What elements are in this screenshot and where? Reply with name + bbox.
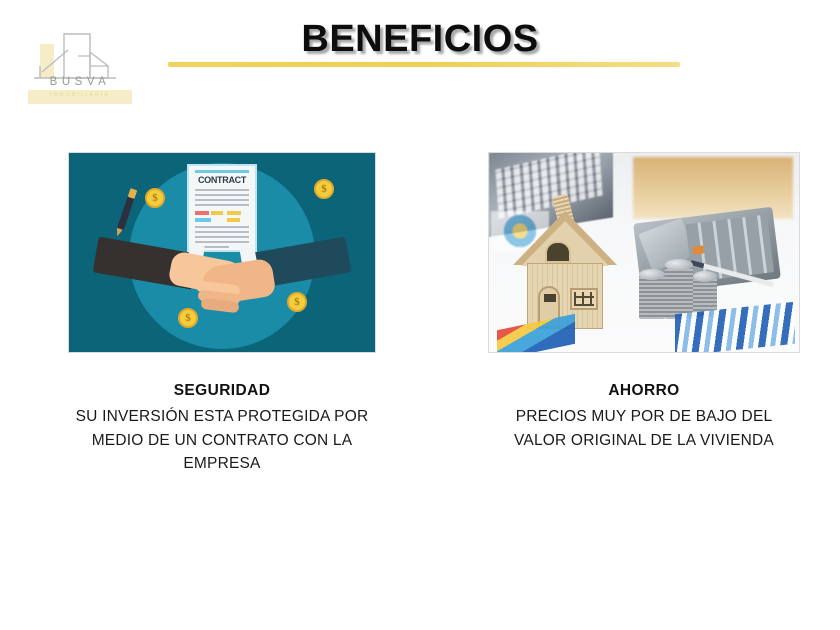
document-form-field [227,218,240,222]
model-house-icon [517,211,613,329]
card-heading: AHORRO [488,382,800,400]
coin-icon: $ [178,308,198,328]
window-grid [574,292,594,306]
document-text-line [195,189,249,191]
title-underline-rule [168,62,680,67]
page-title: BENEFICIOS [0,18,840,61]
door-window [544,294,556,302]
coin-icon: $ [145,188,165,208]
document-text-line [195,199,249,201]
card-caption: AHORRO PRECIOS MUY POR DE BAJO DEL VALOR… [488,382,800,452]
document-title: CONTRACT [189,175,255,185]
house-attic-window [545,241,571,263]
card-caption: SEGURIDAD SU INVERSIÓN ESTA PROTEGIDA PO… [68,382,376,476]
coin-top [639,269,665,280]
document-form-field [195,211,209,215]
logo-wordmark: BUSVA [26,76,134,88]
document-header-bar [195,170,249,173]
document-text-line [195,241,249,243]
logo-tagline: INMOBILIARIA [26,92,134,98]
calculator-orange-key [692,245,704,254]
benefit-card-ahorro: AHORRO PRECIOS MUY POR DE BAJO DEL VALOR… [488,152,800,452]
document-form-field [227,211,241,215]
coin-top [693,271,717,282]
coin-top [665,259,693,271]
photo-background [489,153,799,352]
coin-stack [639,275,665,319]
model-house-coins-calculator-photo [488,152,800,353]
card-body-text: SU INVERSIÓN ESTA PROTEGIDA POR MEDIO DE… [68,405,376,476]
document-text-line [195,231,249,233]
laptop-keyboard [495,153,602,219]
handshake-contract-illustration: CONTRACT [68,152,376,353]
coin-stack [665,265,693,319]
coin-icon: $ [314,179,334,199]
contract-document-icon: CONTRACT [187,164,257,252]
document-text-line [195,194,249,196]
document-text-line [195,236,249,238]
house-window [570,288,598,310]
illustration-background: CONTRACT [69,153,375,352]
document-text-line [195,226,249,228]
document-form-field [195,218,211,222]
slide: BUSVA INMOBILIARIA BENEFICIOS CONTRACT [0,0,840,630]
card-heading: SEGURIDAD [68,382,376,400]
document-form-field [211,211,223,215]
card-body-text: PRECIOS MUY POR DE BAJO DEL VALOR ORIGIN… [488,405,800,452]
pen-cap [128,188,138,199]
document-text-line [195,204,249,206]
benefit-card-seguridad: CONTRACT [68,152,376,476]
coin-icon: $ [287,292,307,312]
